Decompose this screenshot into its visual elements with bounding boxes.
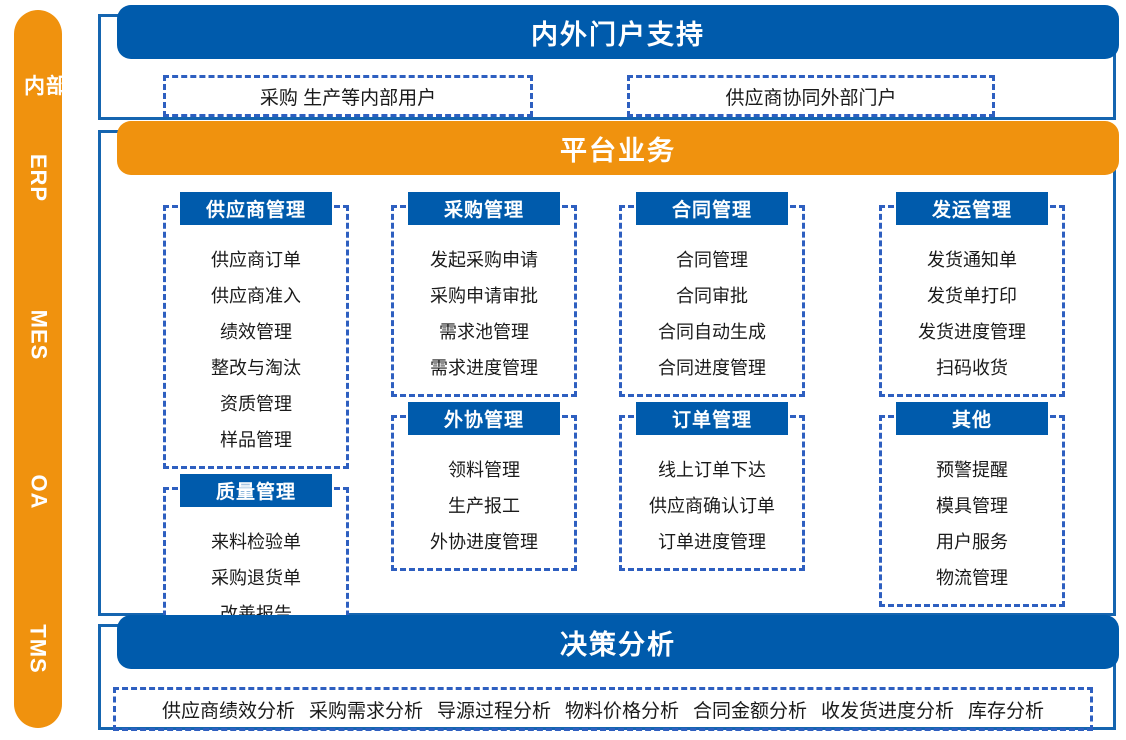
module-header: 发运管理	[896, 192, 1048, 225]
module-item[interactable]: 用户服务	[882, 524, 1062, 560]
module-item[interactable]: 发起采购申请	[394, 242, 574, 278]
module-item[interactable]: 合同审批	[622, 278, 802, 314]
module-header: 供应商管理	[180, 192, 332, 225]
module-header: 订单管理	[636, 402, 788, 435]
module-item[interactable]: 采购申请审批	[394, 278, 574, 314]
sidebar-item-tms[interactable]: TMS	[25, 625, 51, 674]
module-item[interactable]: 供应商订单	[166, 242, 346, 278]
sidebar-slot-oa: OA	[21, 414, 56, 571]
sidebar-slot-tms: TMS	[13, 571, 62, 728]
module-item[interactable]: 来料检验单	[166, 524, 346, 560]
module-column: 合同管理 合同管理 合同审批 合同自动生成 合同进度管理 订单管理 线上订单下达…	[619, 205, 805, 589]
module-header: 外协管理	[408, 402, 560, 435]
module-item[interactable]: 资质管理	[166, 386, 346, 422]
module-item[interactable]: 样品管理	[166, 422, 346, 458]
module-item[interactable]: 需求池管理	[394, 314, 574, 350]
module-item[interactable]: 合同管理	[622, 242, 802, 278]
module-item[interactable]: 生产报工	[394, 488, 574, 524]
module-item[interactable]: 物流管理	[882, 560, 1062, 596]
module-column: 采购管理 发起采购申请 采购申请审批 需求池管理 需求进度管理 外协管理 领料管…	[391, 205, 577, 589]
portal-support-title: 内外门户支持	[117, 5, 1119, 59]
module-header: 采购管理	[408, 192, 560, 225]
module-header: 合同管理	[636, 192, 788, 225]
module-item[interactable]: 供应商准入	[166, 278, 346, 314]
module-item[interactable]: 线上订单下达	[622, 452, 802, 488]
module-item[interactable]: 订单进度管理	[622, 524, 802, 560]
portal-external-suppliers-box[interactable]: 供应商协同外部门户	[627, 75, 995, 117]
decision-item-purchase-demand[interactable]: 采购需求分析	[309, 696, 423, 723]
module-item[interactable]: 绩效管理	[166, 314, 346, 350]
module-item[interactable]: 预警提醒	[882, 452, 1062, 488]
module-item[interactable]: 模具管理	[882, 488, 1062, 524]
module-item[interactable]: 需求进度管理	[394, 350, 574, 386]
decision-analysis-title: 决策分析	[117, 615, 1119, 669]
module-contract-management[interactable]: 合同管理 合同管理 合同审批 合同自动生成 合同进度管理	[619, 205, 805, 397]
module-purchase-management[interactable]: 采购管理 发起采购申请 采购申请审批 需求池管理 需求进度管理	[391, 205, 577, 397]
sidebar-item-erp[interactable]: ERP	[25, 154, 51, 202]
decision-item-material-price[interactable]: 物料价格分析	[565, 696, 679, 723]
sidebar-item-oa[interactable]: OA	[25, 475, 51, 510]
platform-business-panel: 平台业务 供应商管理 供应商订单 供应商准入 绩效管理 整改与淘汰 资质管理 样…	[98, 130, 1116, 616]
decision-item-delivery-progress[interactable]: 收发货进度分析	[821, 696, 954, 723]
module-shipping-management[interactable]: 发运管理 发货通知单 发货单打印 发货进度管理 扫码收货	[879, 205, 1065, 397]
module-header: 质量管理	[180, 474, 332, 507]
decision-item-sourcing-process[interactable]: 导源过程分析	[437, 696, 551, 723]
module-item[interactable]: 外协进度管理	[394, 524, 574, 560]
module-item[interactable]: 采购退货单	[166, 560, 346, 596]
module-supplier-management[interactable]: 供应商管理 供应商订单 供应商准入 绩效管理 整改与淘汰 资质管理 样品管理	[163, 205, 349, 469]
module-item[interactable]: 扫码收货	[882, 350, 1062, 386]
decision-item-contract-amount[interactable]: 合同金额分析	[693, 696, 807, 723]
module-others[interactable]: 其他 预警提醒 模具管理 用户服务 物流管理	[879, 415, 1065, 607]
module-item[interactable]: 发货进度管理	[882, 314, 1062, 350]
module-item[interactable]: 合同进度管理	[622, 350, 802, 386]
sidebar-slot-erp: ERP	[14, 100, 62, 257]
module-item[interactable]: 发货单打印	[882, 278, 1062, 314]
portal-support-panel: 内外门户支持 采购 生产等内部用户 供应商协同外部门户	[98, 14, 1116, 120]
module-item[interactable]: 供应商确认订单	[622, 488, 802, 524]
sidebar-slot-mes: MES	[13, 257, 64, 414]
platform-business-title: 平台业务	[117, 121, 1119, 175]
decision-item-supplier-performance[interactable]: 供应商绩效分析	[162, 696, 295, 723]
sidebar-item-internal-systems[interactable]: 内部系统	[24, 74, 52, 100]
module-column: 发运管理 发货通知单 发货单打印 发货进度管理 扫码收货 其他 预警提醒 模具管…	[879, 205, 1065, 625]
module-item[interactable]: 领料管理	[394, 452, 574, 488]
decision-analysis-panel: 决策分析 供应商绩效分析 采购需求分析 导源过程分析 物料价格分析 合同金额分析…	[98, 624, 1116, 730]
module-order-management[interactable]: 订单管理 线上订单下达 供应商确认订单 订单进度管理	[619, 415, 805, 571]
module-outsourcing-management[interactable]: 外协管理 领料管理 生产报工 外协进度管理	[391, 415, 577, 571]
module-item[interactable]: 发货通知单	[882, 242, 1062, 278]
module-item[interactable]: 合同自动生成	[622, 314, 802, 350]
internal-systems-sidebar: 内部系统 ERP MES OA TMS	[14, 10, 62, 728]
decision-item-inventory[interactable]: 库存分析	[968, 696, 1044, 723]
sidebar-item-mes[interactable]: MES	[25, 310, 51, 361]
decision-analysis-items-box: 供应商绩效分析 采购需求分析 导源过程分析 物料价格分析 合同金额分析 收发货进…	[113, 687, 1093, 731]
module-header: 其他	[896, 402, 1048, 435]
module-column: 供应商管理 供应商订单 供应商准入 绩效管理 整改与淘汰 资质管理 样品管理 质…	[163, 205, 349, 661]
portal-internal-users-box[interactable]: 采购 生产等内部用户	[163, 75, 533, 117]
module-item[interactable]: 整改与淘汰	[166, 350, 346, 386]
